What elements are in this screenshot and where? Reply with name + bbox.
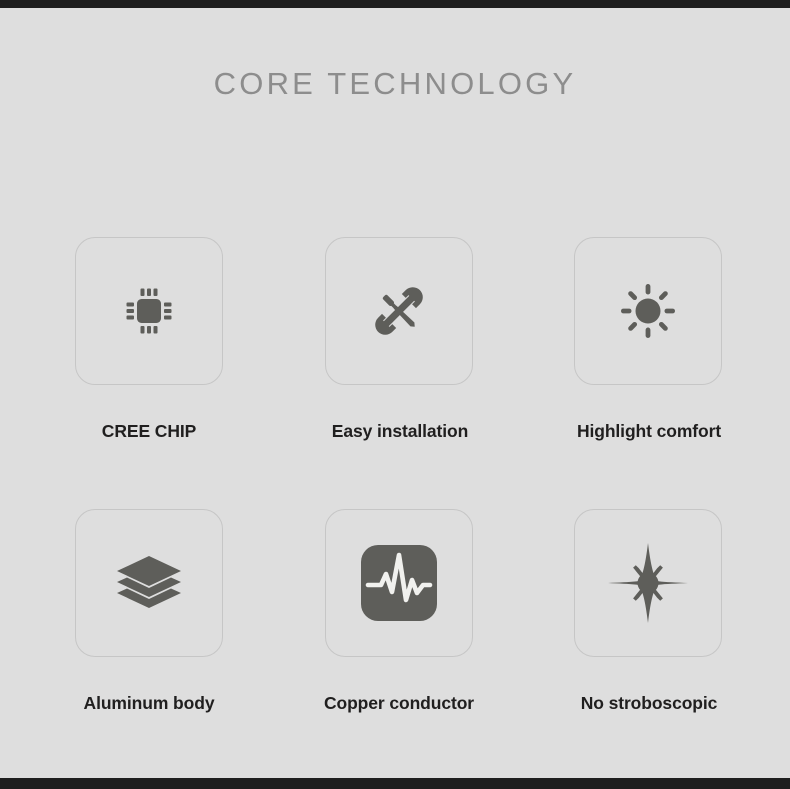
sun-icon	[575, 238, 721, 384]
waveform-icon	[326, 510, 472, 656]
four-point-star-icon	[575, 510, 721, 656]
feature-label: Easy installation	[274, 421, 524, 442]
content-canvas: CORE TECHNOLOGY	[0, 8, 790, 778]
feature-label: Copper conductor	[274, 693, 524, 714]
core-technology-panel: CORE TECHNOLOGY	[0, 0, 790, 789]
feature-grid: CREE CHIP	[0, 8, 790, 778]
feature-item-no-stroboscopic[interactable]: No stroboscopic	[523, 509, 773, 714]
bottom-frame-bar	[0, 778, 790, 789]
feature-item-aluminum-body[interactable]: Aluminum body	[24, 509, 274, 714]
feature-item-highlight-comfort[interactable]: Highlight comfort	[523, 237, 773, 442]
feature-label: Highlight comfort	[523, 421, 773, 442]
feature-item-cree-chip[interactable]: CREE CHIP	[24, 237, 274, 442]
chip-icon	[76, 238, 222, 384]
feature-label: CREE CHIP	[24, 421, 274, 442]
layers-icon	[76, 510, 222, 656]
wrench-screwdriver-icon	[326, 238, 472, 384]
feature-icon-card	[325, 509, 473, 657]
top-frame-bar	[0, 0, 790, 8]
feature-label: Aluminum body	[24, 693, 274, 714]
feature-icon-card	[75, 237, 223, 385]
feature-icon-card	[574, 237, 722, 385]
feature-item-easy-installation[interactable]: Easy installation	[274, 237, 524, 442]
feature-icon-card	[75, 509, 223, 657]
feature-item-copper-conductor[interactable]: Copper conductor	[274, 509, 524, 714]
feature-label: No stroboscopic	[523, 693, 773, 714]
feature-icon-card	[574, 509, 722, 657]
feature-icon-card	[325, 237, 473, 385]
